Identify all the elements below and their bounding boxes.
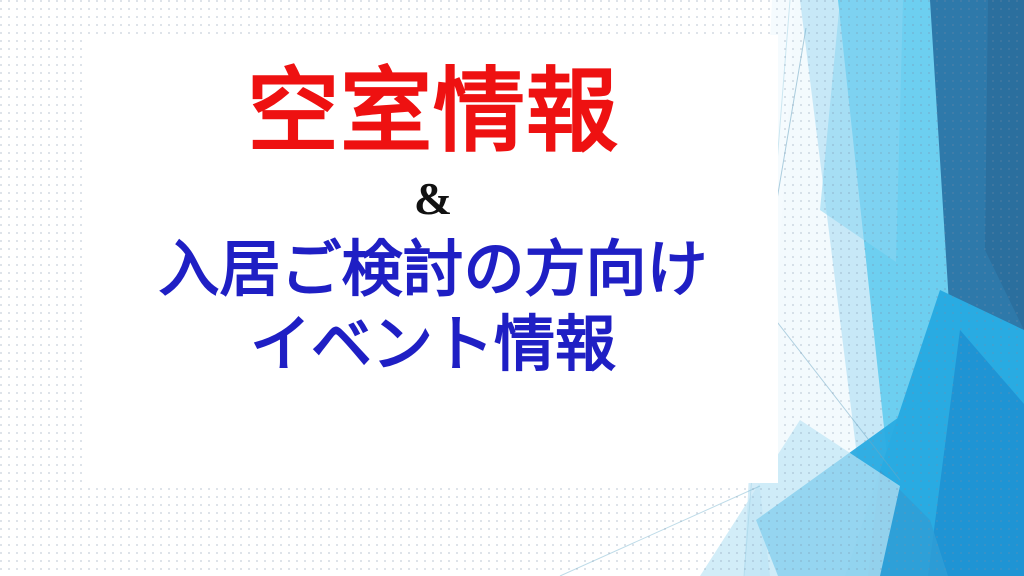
slide-subtitle-line-1: 入居ご検討の方向け (158, 232, 707, 306)
slide-separator-ampersand: & (414, 176, 452, 222)
slide-text-block: 空室情報 & 入居ご検討の方向け イベント情報 (88, 35, 778, 483)
slide-title-main: 空室情報 (247, 63, 619, 162)
slide-subtitle-line-2: イベント情報 (250, 307, 616, 381)
presentation-slide: 空室情報 & 入居ご検討の方向け イベント情報 (0, 0, 1024, 576)
